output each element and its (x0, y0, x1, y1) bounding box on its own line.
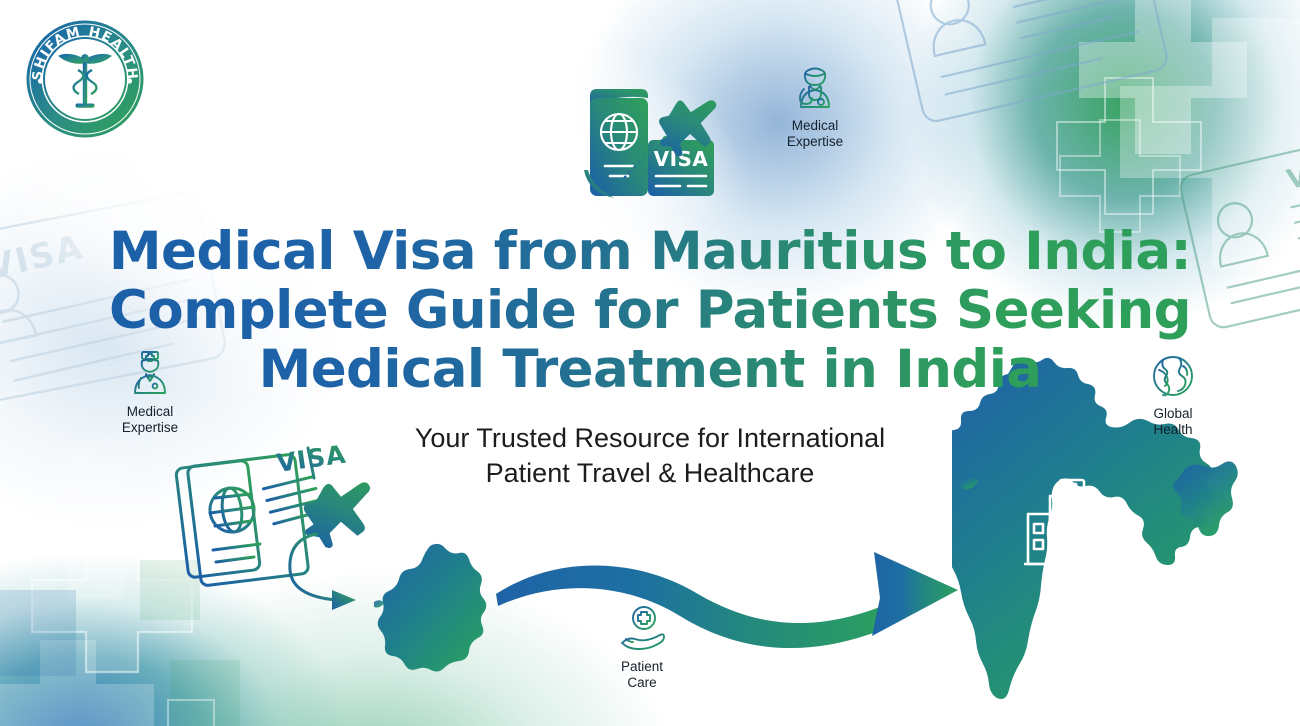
feature-patient-care: Patient Care (582, 605, 702, 691)
feature-global-health: Global Health (1113, 352, 1233, 438)
feature-label: Patient Care (582, 659, 702, 691)
journey-arrow (488, 528, 998, 664)
globe-icon (1149, 352, 1197, 400)
feature-label: Global Health (1113, 406, 1233, 438)
svg-text:VISA: VISA (1284, 148, 1300, 196)
feature-label: Medical Expertise (755, 118, 875, 150)
cross-icon (0, 640, 154, 726)
passport-visa-airplane-icon: VISA (574, 78, 734, 208)
hand-holding-medical-cross-icon (616, 605, 668, 653)
mauritius-map (368, 540, 516, 688)
cross-icon (1079, 0, 1247, 154)
cross-icon (0, 590, 76, 676)
cross-icon (1060, 120, 1180, 232)
feature-medical-expertise-left: Medical Expertise (90, 348, 210, 436)
shifam-health-logo[interactable]: SHIFAM HEALTH MEDICAL TOURISM (24, 18, 146, 140)
visa-card-top-right: VISA (888, 0, 1169, 124)
nurse-cap-icon (124, 348, 176, 398)
cross-icon (120, 700, 262, 726)
doctor-stethoscope-icon (789, 62, 841, 112)
feature-label: Medical Expertise (90, 404, 210, 436)
feature-medical-expertise-top: Medical Expertise (755, 62, 875, 150)
cross-icon (1057, 78, 1201, 214)
hero-banner: VISA VISA (0, 0, 1300, 726)
cross-icon (170, 660, 240, 726)
